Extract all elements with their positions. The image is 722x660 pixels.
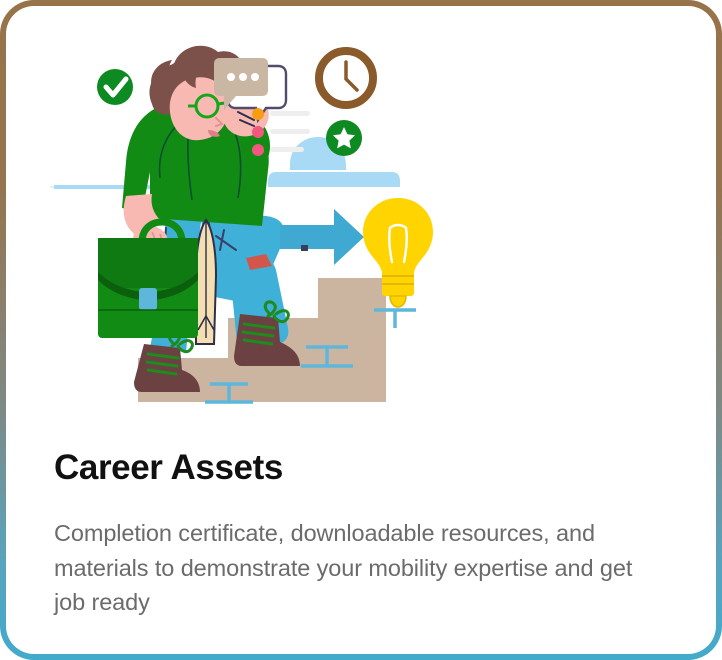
checklist-icon xyxy=(252,108,310,156)
check-badge-icon xyxy=(97,69,133,105)
briefcase-icon xyxy=(98,220,216,344)
career-assets-card[interactable]: Career Assets Completion certificate, do… xyxy=(6,6,716,654)
page-title: Career Assets xyxy=(54,446,654,490)
card-description: Completion certificate, downloadable res… xyxy=(54,490,644,620)
clock-icon xyxy=(319,51,373,105)
career-assets-card-border: Career Assets Completion certificate, do… xyxy=(0,0,722,660)
career-assets-illustration xyxy=(48,42,438,408)
star-badge-icon xyxy=(326,120,362,156)
arrow-right-icon xyxy=(280,209,364,265)
card-text-block: Career Assets Completion certificate, do… xyxy=(54,446,654,620)
